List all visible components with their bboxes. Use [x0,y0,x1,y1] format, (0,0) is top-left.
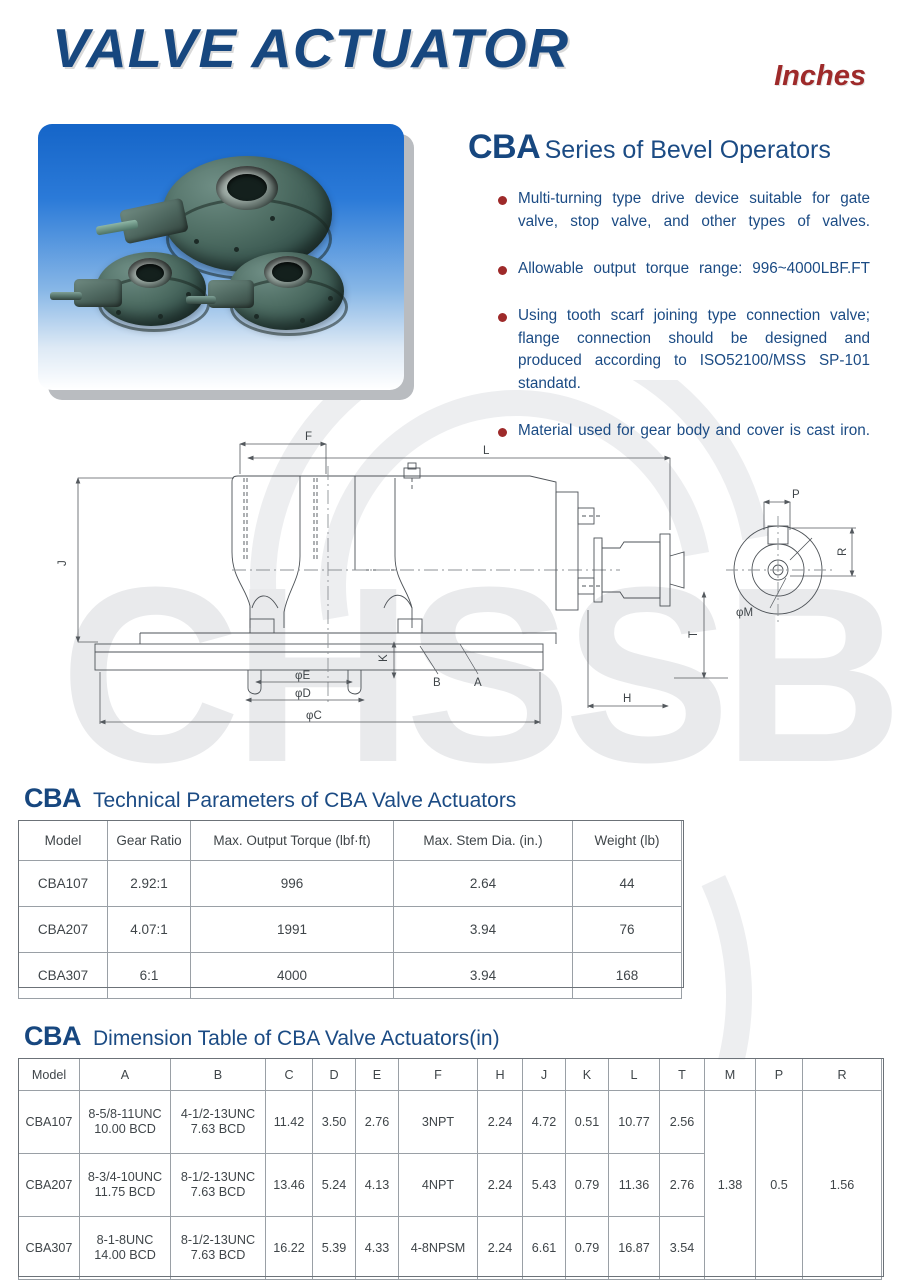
cell-j: 4.72 [523,1091,566,1154]
bullet-dot-icon [498,196,507,205]
col-header-model: Model [19,1059,80,1091]
list-item: Using tooth scarf joining type connectio… [498,305,870,418]
cell-a-line2: 11.75 BCD [81,1185,169,1200]
dim-label-phi-d: φD [295,688,311,700]
col-header-j: J [523,1059,566,1091]
dim-label-b: B [433,677,441,689]
col-header-weight: Weight (lb) [573,821,682,861]
list-item: Multi-turning type drive device suitable… [498,188,870,256]
cell-f: 3NPT [399,1091,478,1154]
cell-t: 2.56 [660,1091,705,1154]
cell-a: 8-1-8UNC 14.00 BCD [80,1217,171,1280]
cell-d: 3.50 [313,1091,356,1154]
col-header-d: D [313,1059,356,1091]
col-header-f: F [399,1059,478,1091]
col-header-model: Model [19,821,108,861]
cell-gear-ratio: 6:1 [108,953,191,999]
cell-t: 2.76 [660,1154,705,1217]
col-header-a: A [80,1059,171,1091]
dim-section-heading: CBADimension Table of CBA Valve Actuator… [24,1021,500,1052]
cell-k: 0.51 [566,1091,609,1154]
cell-model: CBA307 [19,953,108,999]
col-header-l: L [609,1059,660,1091]
cell-f: 4-8NPSM [399,1217,478,1280]
cell-f: 4NPT [399,1154,478,1217]
cell-r-merged: 1.56 [803,1091,882,1280]
col-header-torque: Max. Output Torque (lbf·ft) [191,821,394,861]
photo-frame [38,124,404,390]
dim-section-title: Dimension Table of CBA Valve Actuators(i… [93,1027,500,1050]
table-row: CBA307 6:1 4000 3.94 168 [19,953,682,999]
col-header-gear-ratio: Gear Ratio [108,821,191,861]
dim-label-l: L [483,445,490,457]
cell-b-line1: 4-1/2-13UNC [172,1107,264,1122]
dim-label-f: F [305,431,312,443]
cell-h: 2.24 [478,1217,523,1280]
col-header-b: B [171,1059,266,1091]
cell-l: 11.36 [609,1154,660,1217]
feature-text: Using tooth scarf joining type connectio… [518,305,870,418]
cell-b: 8-1/2-13UNC 7.63 BCD [171,1217,266,1280]
dim-label-phi-e: φE [295,670,310,682]
feature-list: Multi-turning type drive device suitable… [498,188,870,467]
col-header-c: C [266,1059,313,1091]
dim-label-p: P [792,489,800,501]
feature-text: Allowable output torque range: 996~4000L… [518,258,870,303]
cell-torque: 4000 [191,953,394,999]
technical-parameters-table: Model Gear Ratio Max. Output Torque (lbf… [18,820,682,999]
cell-c: 13.46 [266,1154,313,1217]
table-row: CBA107 2.92:1 996 2.64 44 [19,861,682,907]
cell-d: 5.24 [313,1154,356,1217]
product-photo [38,124,404,390]
technical-drawing: F L J φE φD φC K H T P R A B φM [0,430,900,770]
col-header-k: K [566,1059,609,1091]
cell-model: CBA107 [19,861,108,907]
cell-torque: 1991 [191,907,394,953]
cell-p-merged: 0.5 [756,1091,803,1280]
col-header-stem-dia: Max. Stem Dia. (in.) [394,821,573,861]
cell-b-line1: 8-1/2-13UNC [172,1170,264,1185]
tech-section-heading: CBATechnical Parameters of CBA Valve Act… [24,783,516,814]
cell-a-line1: 8-1-8UNC [81,1233,169,1248]
cell-b-line2: 7.63 BCD [172,1122,264,1137]
dim-section-tag: CBA [24,1021,81,1051]
bullet-dot-icon [498,428,507,437]
dim-label-phi-c: φC [306,710,322,722]
table-row: CBA107 8-5/8-11UNC 10.00 BCD 4-1/2-13UNC… [19,1091,882,1154]
cell-model: CBA207 [19,1154,80,1217]
bullet-dot-icon [498,266,507,275]
series-heading: CBA Series of Bevel Operators [468,128,831,167]
cell-stem-dia: 3.94 [394,907,573,953]
cell-c: 11.42 [266,1091,313,1154]
col-header-e: E [356,1059,399,1091]
bullet-dot-icon [498,313,507,322]
feature-text: Material used for gear body and cover is… [518,420,870,465]
cell-model: CBA307 [19,1217,80,1280]
col-header-m: M [705,1059,756,1091]
feature-text: Multi-turning type drive device suitable… [518,188,870,256]
col-header-r: R [803,1059,882,1091]
cell-k: 0.79 [566,1217,609,1280]
cell-h: 2.24 [478,1154,523,1217]
cell-t: 3.54 [660,1217,705,1280]
dim-label-h: H [623,693,631,705]
unit-badge: Inches [774,60,866,93]
cell-l: 16.87 [609,1217,660,1280]
cell-h: 2.24 [478,1091,523,1154]
cell-a-line1: 8-5/8-11UNC [81,1107,169,1122]
cell-e: 4.33 [356,1217,399,1280]
dim-label-k: K [378,654,390,662]
cell-c: 16.22 [266,1217,313,1280]
list-item: Material used for gear body and cover is… [498,420,870,465]
cell-l: 10.77 [609,1091,660,1154]
cell-weight: 76 [573,907,682,953]
tech-section-title: Technical Parameters of CBA Valve Actuat… [93,789,516,812]
col-header-t: T [660,1059,705,1091]
cell-b-line2: 7.63 BCD [172,1185,264,1200]
dim-label-j: J [57,560,69,566]
cell-e: 2.76 [356,1091,399,1154]
cell-gear-ratio: 2.92:1 [108,861,191,907]
table-header-row: Model Gear Ratio Max. Output Torque (lbf… [19,821,682,861]
cell-b: 4-1/2-13UNC 7.63 BCD [171,1091,266,1154]
cell-j: 5.43 [523,1154,566,1217]
cell-j: 6.61 [523,1217,566,1280]
cell-model: CBA207 [19,907,108,953]
table-row: CBA207 4.07:1 1991 3.94 76 [19,907,682,953]
cell-a-line2: 10.00 BCD [81,1122,169,1137]
cell-m-merged: 1.38 [705,1091,756,1280]
col-header-h: H [478,1059,523,1091]
table-header-row: Model A B C D E F H J K L T M P R [19,1059,882,1091]
dim-label-r: R [837,548,849,556]
cell-stem-dia: 3.94 [394,953,573,999]
cell-torque: 996 [191,861,394,907]
cell-a-line2: 14.00 BCD [81,1248,169,1263]
dimension-table: Model A B C D E F H J K L T M P R CBA107… [18,1058,882,1280]
cell-stem-dia: 2.64 [394,861,573,907]
list-item: Allowable output torque range: 996~4000L… [498,258,870,303]
dim-label-a: A [474,677,482,689]
dim-label-t: T [688,631,700,638]
cell-a: 8-5/8-11UNC 10.00 BCD [80,1091,171,1154]
series-title: Series of Bevel Operators [545,136,831,164]
cell-gear-ratio: 4.07:1 [108,907,191,953]
cell-a-line1: 8-3/4-10UNC [81,1170,169,1185]
cell-model: CBA107 [19,1091,80,1154]
cell-a: 8-3/4-10UNC 11.75 BCD [80,1154,171,1217]
tech-section-tag: CBA [24,783,81,813]
cell-b-line2: 7.63 BCD [172,1248,264,1263]
cell-d: 5.39 [313,1217,356,1280]
series-tag: CBA [468,128,540,166]
cell-weight: 168 [573,953,682,999]
cell-b: 8-1/2-13UNC 7.63 BCD [171,1154,266,1217]
cell-e: 4.13 [356,1154,399,1217]
cell-k: 0.79 [566,1154,609,1217]
cell-weight: 44 [573,861,682,907]
cell-b-line1: 8-1/2-13UNC [172,1233,264,1248]
page-title: VALVE ACTUATOR [52,16,569,80]
col-header-p: P [756,1059,803,1091]
dim-label-phi-m: φM [736,607,753,619]
